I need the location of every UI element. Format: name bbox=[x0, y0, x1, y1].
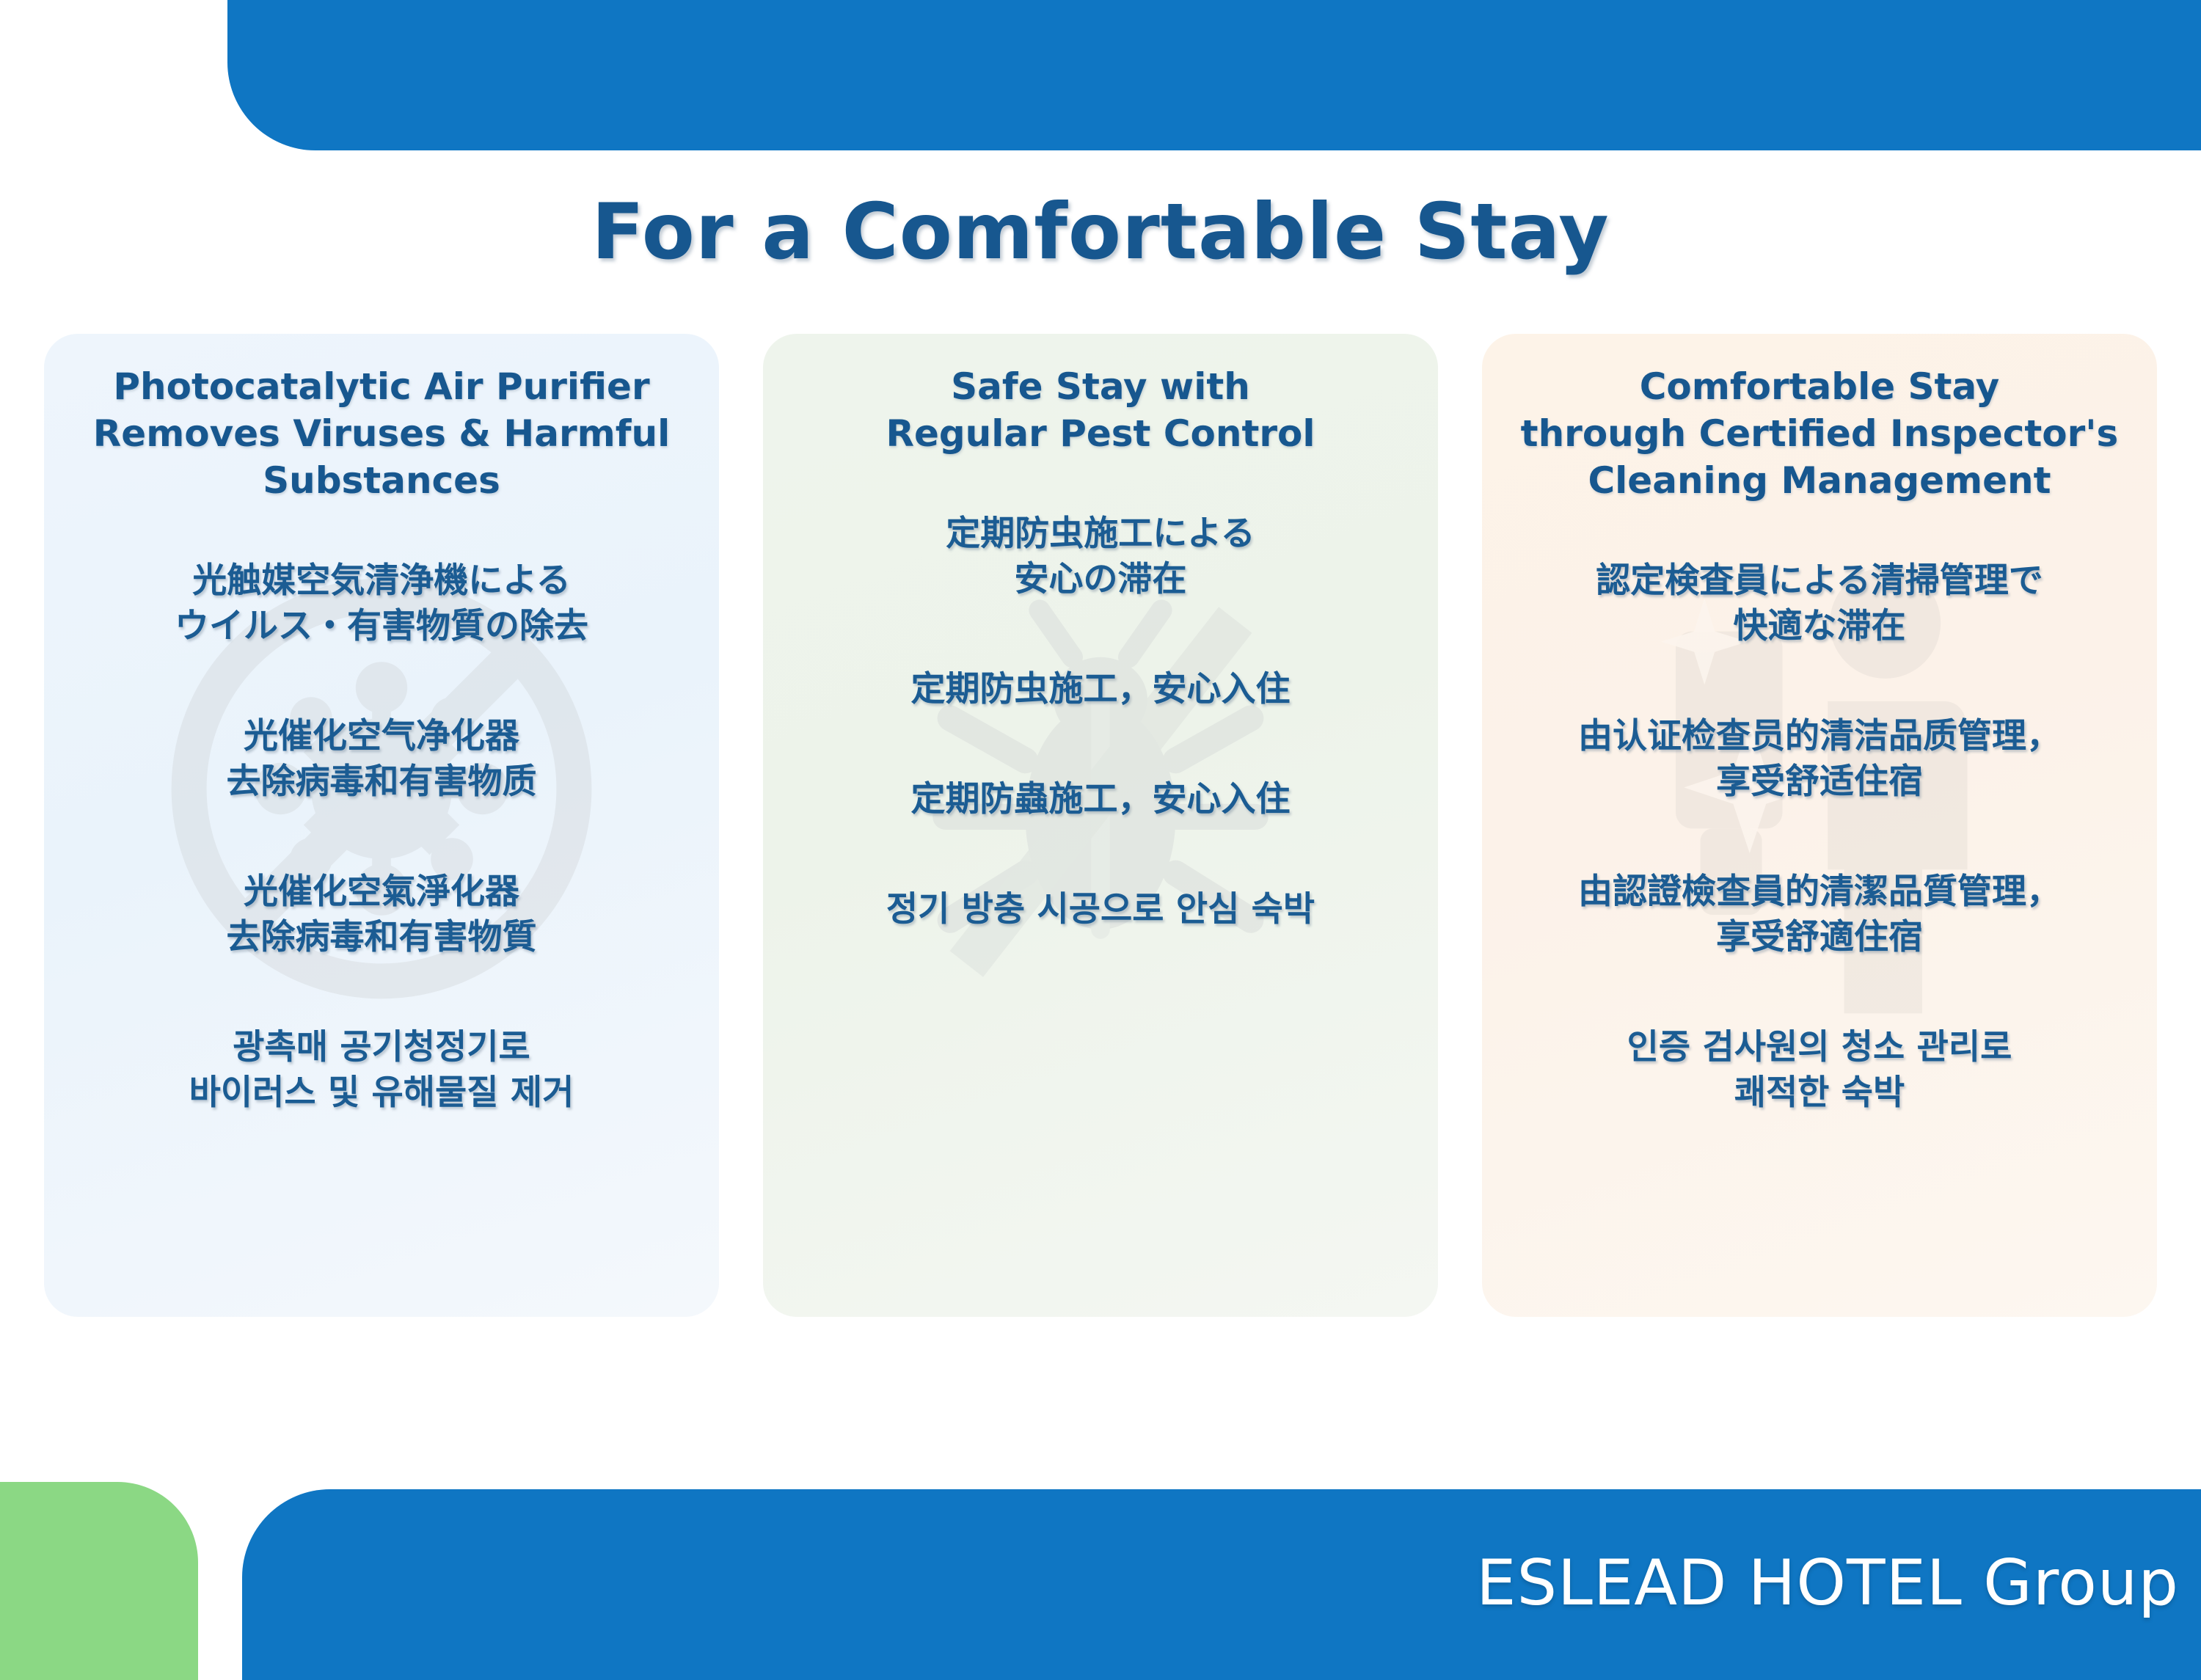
card-heading: Safe Stay with Regular Pest Control bbox=[784, 363, 1417, 457]
card-line-zh-hans: 定期防虫施工，安心入住 bbox=[784, 667, 1417, 712]
card-body: Comfortable Stay through Certified Inspe… bbox=[1503, 363, 2136, 1116]
feature-card-photocatalytic-air-purifier: Photocatalytic Air Purifier Removes Viru… bbox=[44, 334, 719, 1317]
top-banner-shape bbox=[227, 0, 2201, 150]
card-heading: Comfortable Stay through Certified Inspe… bbox=[1503, 363, 2136, 504]
card-line-ko: 정기 방충 시공으로 안심 숙박 bbox=[784, 887, 1417, 932]
card-line-zh-hant: 光催化空氣淨化器 去除病毒和有害物質 bbox=[65, 869, 698, 960]
card-body: Safe Stay with Regular Pest Control 定期防虫… bbox=[784, 363, 1417, 932]
card-line-zh-hans: 由认证检查员的清洁品质管理， 享受舒适住宿 bbox=[1503, 714, 2136, 805]
feature-cards-row: Photocatalytic Air Purifier Removes Viru… bbox=[44, 334, 2157, 1317]
footer-brand-text: ESLEAD HOTEL Group bbox=[1476, 1546, 2179, 1620]
card-line-zh-hans: 光催化空气净化器 去除病毒和有害物质 bbox=[65, 714, 698, 805]
card-heading: Photocatalytic Air Purifier Removes Viru… bbox=[65, 363, 698, 504]
card-line-zh-hant: 定期防蟲施工，安心入住 bbox=[784, 777, 1417, 822]
card-body: Photocatalytic Air Purifier Removes Viru… bbox=[65, 363, 698, 1116]
feature-card-certified-inspector-cleaning: Comfortable Stay through Certified Inspe… bbox=[1482, 334, 2157, 1317]
card-line-ko: 인증 검사원의 청소 관리로 쾌적한 숙박 bbox=[1503, 1025, 2136, 1116]
card-line-ja: 定期防虫施工による 安心の滞在 bbox=[784, 511, 1417, 602]
card-line-ja: 光触媒空気清浄機による ウイルス・有害物質の除去 bbox=[65, 558, 698, 649]
page-title: For a Comfortable Stay bbox=[0, 187, 2201, 277]
card-line-ko: 광촉매 공기청정기로 바이러스 및 유해물질 제거 bbox=[65, 1025, 698, 1116]
card-line-ja: 認定検査員による清掃管理で 快適な滞在 bbox=[1503, 558, 2136, 649]
feature-card-regular-pest-control: Safe Stay with Regular Pest Control 定期防虫… bbox=[763, 334, 1438, 1317]
card-line-zh-hant: 由認證檢查員的清潔品質管理， 享受舒適住宿 bbox=[1503, 869, 2136, 960]
